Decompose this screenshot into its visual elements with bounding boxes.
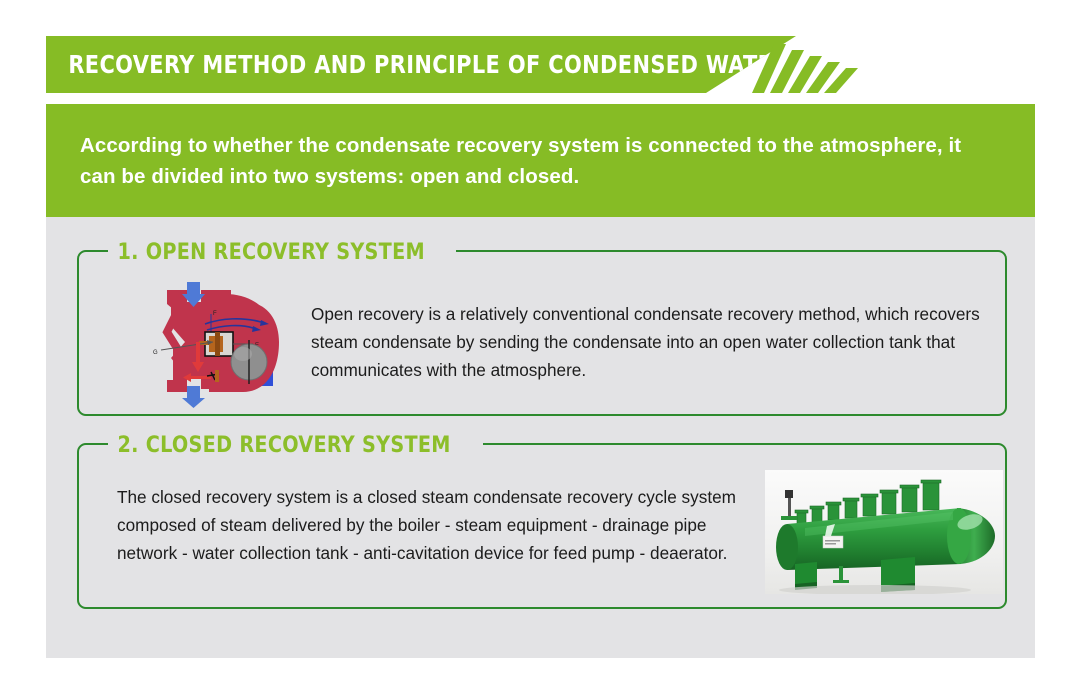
infographic-page: Recovery method and principle of condens… <box>0 0 1080 687</box>
intro-callout: According to whether the condensate reco… <box>46 104 1035 217</box>
section-closed-recovery-system: 2. CLOSED RECOVERY SYSTEM The closed rec… <box>77 443 1007 609</box>
section-2-legend: 2. CLOSED RECOVERY SYSTEM <box>108 430 483 460</box>
section-2-body-text: The closed recovery system is a closed s… <box>117 483 765 567</box>
green-condensate-tank-photo <box>765 470 1003 594</box>
section-1-body-text: Open recovery is a relatively convention… <box>311 300 983 384</box>
diagonal-slashes-icon <box>752 36 862 93</box>
content-panel: 1. OPEN RECOVERY SYSTEM <box>46 217 1035 658</box>
page-title: Recovery method and principle of condens… <box>46 50 789 79</box>
svg-text:F: F <box>213 311 217 317</box>
intro-text: According to whether the condensate reco… <box>46 130 1035 192</box>
header-banner: Recovery method and principle of condens… <box>46 36 796 93</box>
steam-trap-cross-section-diagram: F E G <box>149 280 289 408</box>
section-1-legend: 1. OPEN RECOVERY SYSTEM <box>108 237 456 267</box>
section-2-heading: 2. CLOSED RECOVERY SYSTEM <box>108 432 464 458</box>
svg-text:G: G <box>153 350 158 356</box>
section-1-heading: 1. OPEN RECOVERY SYSTEM <box>108 239 438 265</box>
section-open-recovery-system: 1. OPEN RECOVERY SYSTEM <box>77 250 1007 416</box>
